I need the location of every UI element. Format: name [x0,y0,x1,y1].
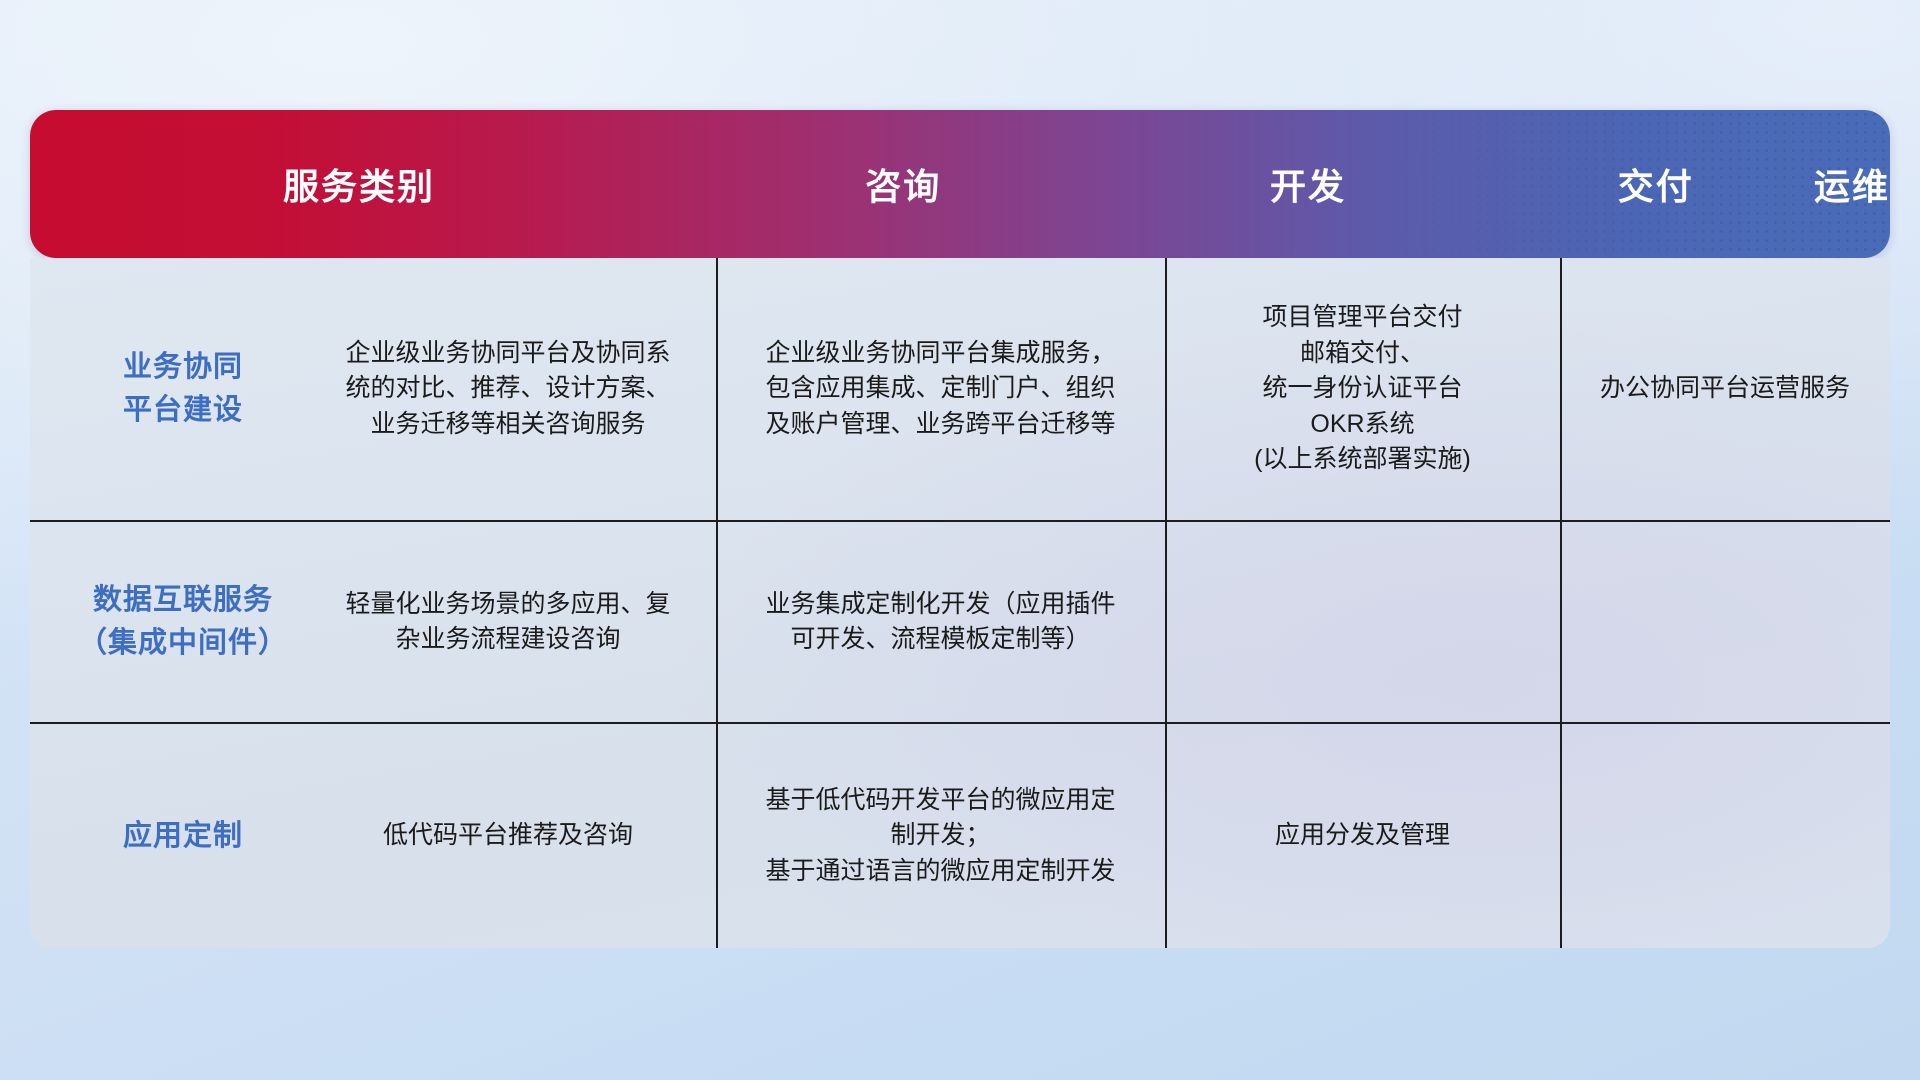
cell-consulting: 轻量化业务场景的多应用、复 杂业务流程建设咨询 [300,587,716,658]
cell-develop: 业务集成定制化开发（应用插件 可开发、流程模板定制等） [716,587,1165,658]
cell-ops: 办公协同平台运营服务 [1560,371,1890,407]
table-body: 业务协同 平台建设 企业级业务协同平台及协同系 统的对比、推荐、设计方案、 业务… [30,258,1890,948]
row-category-label: 数据互联服务 （集成中间件） [30,579,300,665]
table-row: 应用定制 低代码平台推荐及咨询 基于低代码开发平台的微应用定 制开发； 基于通过… [30,724,1890,948]
cell-develop: 基于低代码开发平台的微应用定 制开发； 基于通过语言的微应用定制开发 [716,783,1165,890]
cell-consulting: 低代码平台推荐及咨询 [300,818,716,854]
cell-deliver: 项目管理平台交付 邮箱交付、 统一身份认证平台 OKR系统 (以上系统部署实施) [1165,300,1560,478]
slide-canvas: 服务类别 咨询 开发 交付 运维 业务协同 平台建设 企业级业务协同平台及协同系… [0,0,1920,1080]
column-header-deliver: 交付 [1497,158,1814,210]
column-header-consulting: 咨询 [688,158,1119,210]
column-header-ops: 运维 [1814,158,1890,210]
row-category-label: 业务协同 平台建设 [30,346,300,432]
column-header-category: 服务类别 [30,158,688,210]
column-header-develop: 开发 [1119,158,1498,210]
row-category-label: 应用定制 [30,815,300,858]
cell-deliver: 应用分发及管理 [1165,818,1560,854]
cell-develop: 企业级业务协同平台集成服务， 包含应用集成、定制门户、组织 及账户管理、业务跨平… [716,336,1165,443]
services-matrix-table: 服务类别 咨询 开发 交付 运维 业务协同 平台建设 企业级业务协同平台及协同系… [30,110,1890,948]
cell-consulting: 企业级业务协同平台及协同系 统的对比、推荐、设计方案、 业务迁移等相关咨询服务 [300,336,716,443]
table-header-row: 服务类别 咨询 开发 交付 运维 [30,110,1890,258]
table-row: 业务协同 平台建设 企业级业务协同平台及协同系 统的对比、推荐、设计方案、 业务… [30,258,1890,520]
table-row: 数据互联服务 （集成中间件） 轻量化业务场景的多应用、复 杂业务流程建设咨询 业… [30,522,1890,722]
